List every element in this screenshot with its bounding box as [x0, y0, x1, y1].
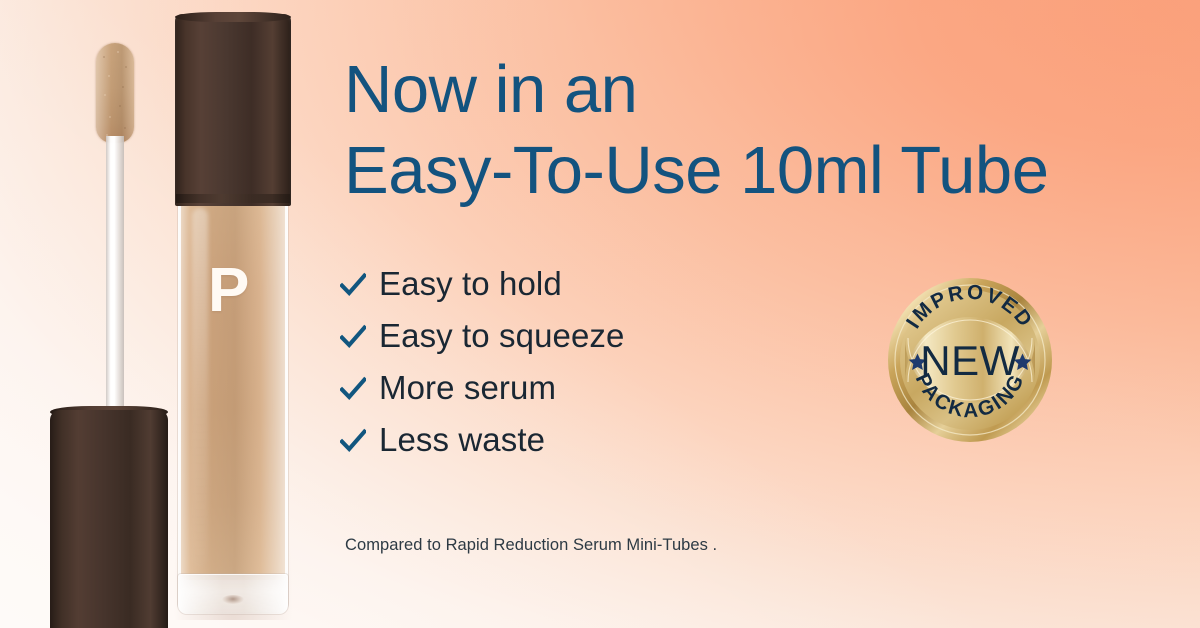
tube-cap — [175, 14, 291, 206]
headline-line-2: Easy-To-Use 10ml Tube — [344, 138, 1104, 203]
wand-tip-texture — [96, 43, 134, 143]
feature-list: Easy to hold Easy to squeeze More serum … — [340, 258, 625, 466]
new-packaging-badge: IMPROVED PACKAGING NEW — [887, 277, 1053, 443]
wand-stem — [106, 136, 124, 428]
tube-base-reflection — [222, 595, 244, 604]
list-item: More serum — [340, 362, 625, 414]
badge-center-text: NEW — [920, 337, 1020, 384]
check-icon — [340, 324, 366, 350]
feature-label: More serum — [379, 369, 556, 407]
wand-cap — [50, 410, 168, 628]
tube-highlight — [192, 208, 208, 568]
applicator-wand — [46, 38, 178, 618]
check-icon — [340, 272, 366, 298]
feature-label: Easy to hold — [379, 265, 562, 303]
list-item: Easy to hold — [340, 258, 625, 310]
feature-label: Less waste — [379, 421, 545, 459]
list-item: Less waste — [340, 414, 625, 466]
feature-label: Easy to squeeze — [379, 317, 625, 355]
brand-logo-p: P — [208, 260, 260, 324]
tube-base — [178, 574, 288, 614]
check-icon — [340, 428, 366, 454]
headline-line-1: Now in an — [344, 52, 637, 127]
tube-cap-top — [175, 12, 291, 22]
footnote-disclaimer: Compared to Rapid Reduction Serum Mini-T… — [345, 536, 717, 555]
promo-banner: P Now in an Easy-To-Use 10ml Tube Easy t… — [0, 0, 1200, 628]
list-item: Easy to squeeze — [340, 310, 625, 362]
headline: Now in an Easy-To-Use 10ml Tube — [344, 57, 1104, 203]
tube-cap-lip — [176, 194, 290, 203]
check-icon — [340, 376, 366, 402]
serum-tube: P — [172, 8, 294, 620]
